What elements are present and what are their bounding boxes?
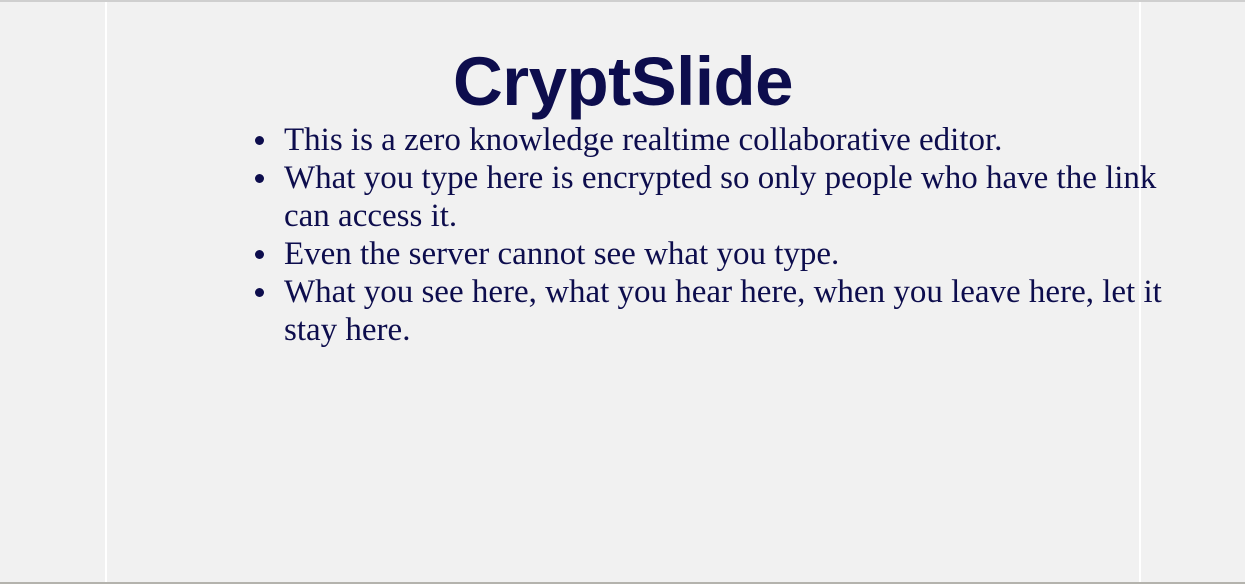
list-item[interactable]: Even the server cannot see what you type…	[247, 235, 1192, 273]
list-item-text: What you type here is encrypted so only …	[284, 159, 1192, 235]
bullet-point-icon	[255, 174, 264, 183]
slide-title: CryptSlide	[107, 46, 1139, 118]
slide-panel[interactable]: CryptSlide This is a zero knowledge real…	[105, 2, 1141, 584]
list-item[interactable]: What you type here is encrypted so only …	[247, 159, 1192, 235]
bullet-point-icon	[255, 136, 264, 145]
list-item[interactable]: What you see here, what you hear here, w…	[247, 273, 1192, 349]
list-item[interactable]: This is a zero knowledge realtime collab…	[247, 121, 1192, 159]
bullet-point-icon	[255, 250, 264, 259]
slide-bullet-list: This is a zero knowledge realtime collab…	[247, 121, 1192, 349]
list-item-text: Even the server cannot see what you type…	[284, 235, 1192, 273]
bullet-point-icon	[255, 288, 264, 297]
list-item-text: This is a zero knowledge realtime collab…	[284, 121, 1192, 159]
list-item-text: What you see here, what you hear here, w…	[284, 273, 1192, 349]
